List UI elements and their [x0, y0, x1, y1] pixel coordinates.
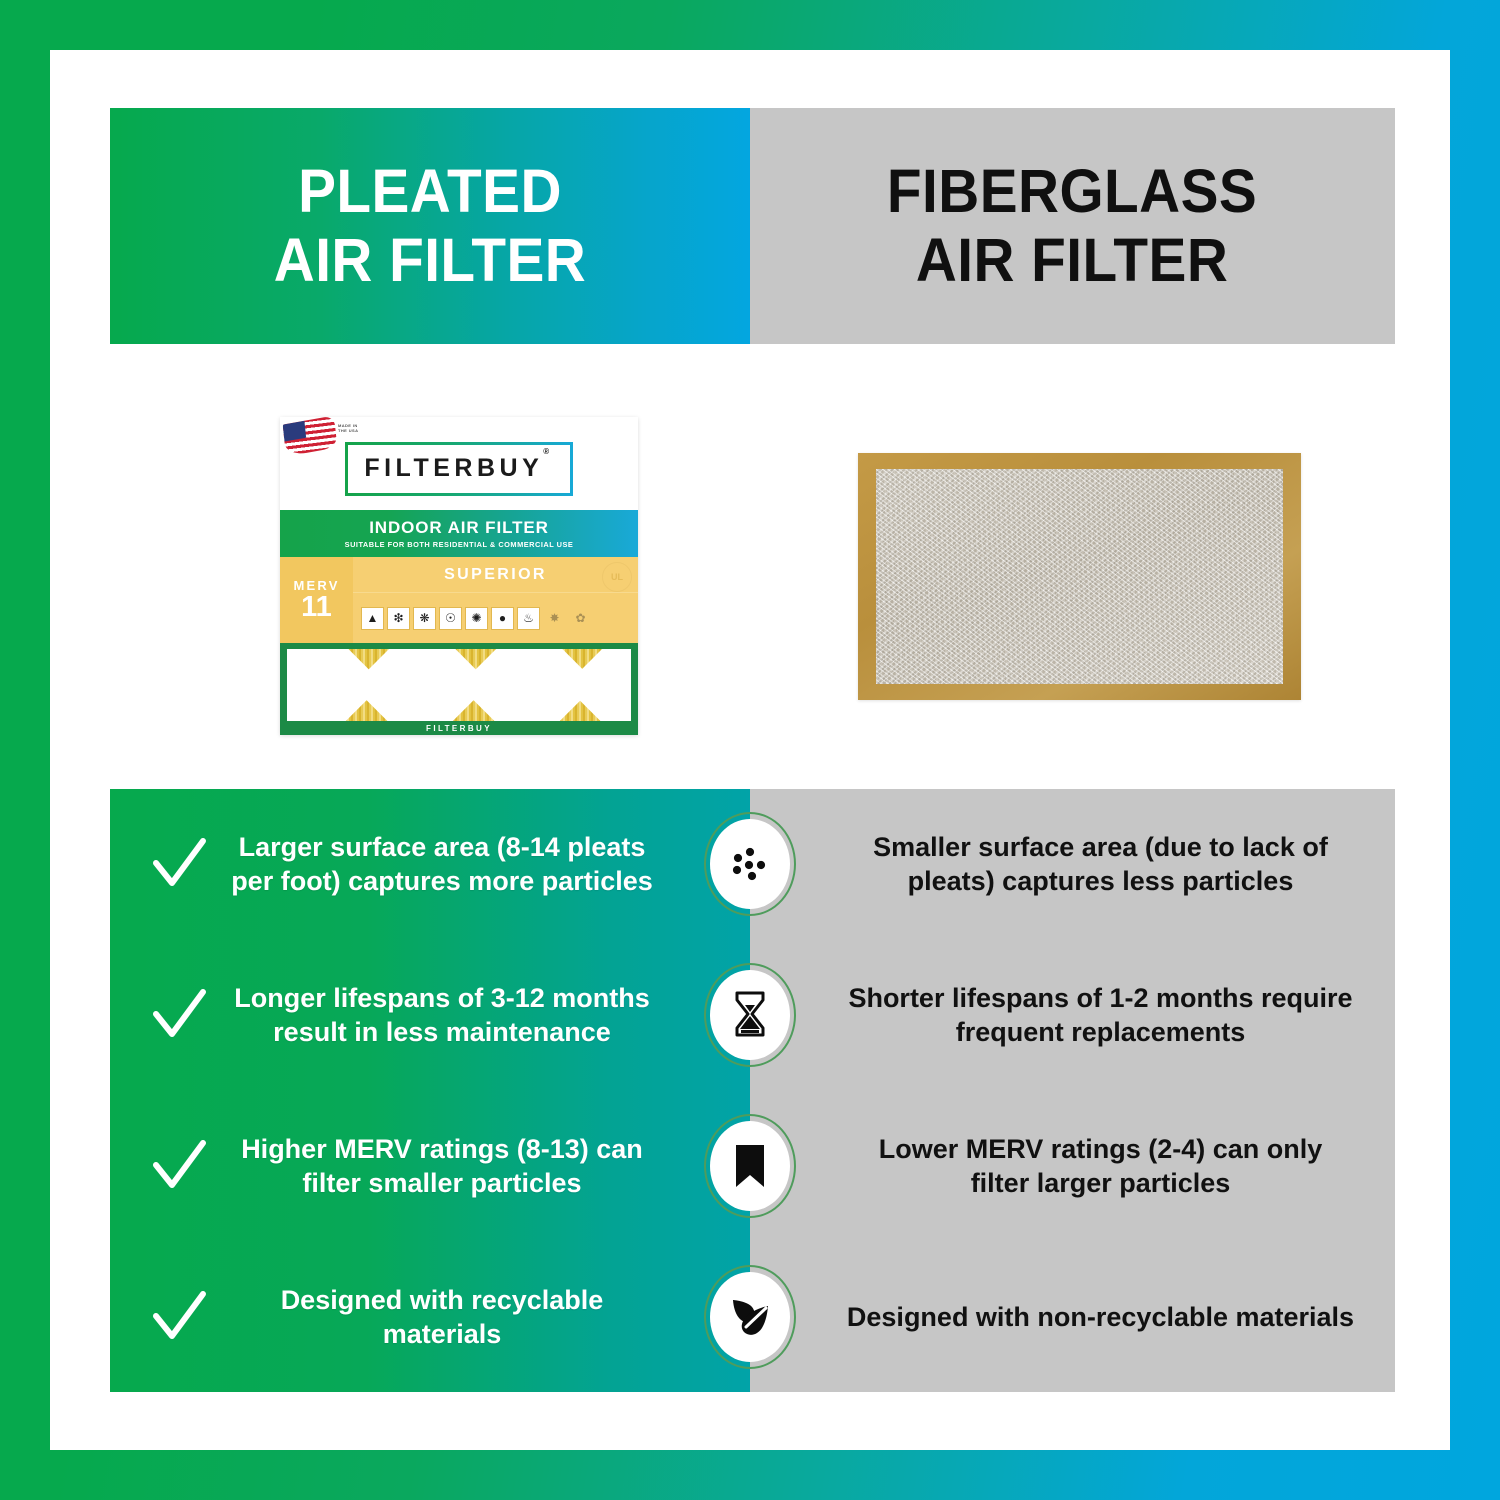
page-inner-white-card: PLEATED AIR FILTER FIBERGLASS AIR FILTER: [50, 50, 1450, 1450]
row-pleated-text: Larger surface area (8-14 pleats per foo…: [226, 830, 658, 898]
filterbuy-logo: FILTERBUY®: [345, 442, 572, 496]
package-band-main: INDOOR AIR FILTER: [369, 518, 549, 538]
comparison-rows: Larger surface area (8-14 pleats per foo…: [110, 789, 1395, 1392]
header-fiberglass-line2: AIR FILTER: [916, 226, 1228, 294]
header-fiberglass-line1: FIBERGLASS: [887, 157, 1257, 225]
row-right-fiberglass: Lower MERV ratings (2-4) can only filter…: [750, 1091, 1395, 1242]
row-right-fiberglass: Smaller surface area (due to lack of ple…: [750, 789, 1395, 940]
row-left-pleated: Larger surface area (8-14 pleats per foo…: [110, 789, 750, 940]
row-pleated-text: Longer lifespans of 3-12 months result i…: [226, 981, 658, 1049]
package-pleated-media-area: FILTERBUY: [280, 643, 638, 735]
row-fiberglass-text: Smaller surface area (due to lack of ple…: [846, 830, 1355, 898]
merv-value: 11: [301, 594, 332, 622]
particles-glyph: [726, 840, 774, 888]
fiberglass-filter-image: [858, 453, 1301, 700]
header-pleated-line1: PLEATED: [298, 157, 562, 225]
checkmark-icon: [148, 984, 210, 1046]
registered-mark: ®: [543, 447, 553, 456]
pleated-media-texture: [287, 649, 631, 721]
row-pleated-text: Designed with recyclable materials: [226, 1283, 658, 1351]
row-fiberglass-text: Lower MERV ratings (2-4) can only filter…: [846, 1132, 1355, 1200]
comparison-row: Higher MERV ratings (8-13) can filter sm…: [110, 1091, 1395, 1242]
header-pleated: PLEATED AIR FILTER: [110, 108, 750, 344]
particles-icon: [704, 812, 796, 916]
product-images-row: MADE IN THE USA FILTERBUY® INDOOR AIR FI…: [110, 365, 1395, 785]
filterbuy-logo-text: FILTERBUY®: [364, 454, 553, 483]
hourglass-icon: [704, 963, 796, 1067]
tier-label: SUPERIOR: [444, 566, 547, 584]
row-pleated-text: Higher MERV ratings (8-13) can filter sm…: [226, 1132, 658, 1200]
virus-icon-faded: ✸: [543, 607, 566, 630]
made-in-usa-label: MADE IN THE USA: [338, 423, 358, 434]
infographic-page: PLEATED AIR FILTER FIBERGLASS AIR FILTER: [0, 0, 1500, 1500]
row-right-fiberglass: Designed with non-recyclable materials: [750, 1241, 1395, 1392]
fiberglass-media-texture: [876, 469, 1283, 684]
usa-flag-icon: [283, 417, 338, 456]
bookmark-icon: [704, 1114, 796, 1218]
package-indoor-air-filter-band: INDOOR AIR FILTER SUITABLE FOR BOTH RESI…: [280, 510, 638, 557]
checkmark-icon: [148, 1286, 210, 1348]
package-band-sub: SUITABLE FOR BOTH RESIDENTIAL & COMMERCI…: [345, 540, 574, 549]
row-left-pleated: Higher MERV ratings (8-13) can filter sm…: [110, 1091, 750, 1242]
ul-certification-badge: UL: [602, 562, 632, 592]
dust-mite-icon: ❇: [387, 607, 410, 630]
header-fiberglass-title: FIBERGLASS AIR FILTER: [887, 157, 1257, 295]
row-fiberglass-text: Shorter lifespans of 1-2 months require …: [846, 981, 1355, 1049]
leaf-icon: [704, 1265, 796, 1369]
checkmark-icon: [148, 1135, 210, 1197]
row-fiberglass-text: Designed with non-recyclable materials: [846, 1300, 1355, 1334]
pleated-filter-package-image: MADE IN THE USA FILTERBUY® INDOOR AIR FI…: [280, 417, 638, 735]
header-fiberglass: FIBERGLASS AIR FILTER: [750, 108, 1395, 344]
bookmark-glyph: [726, 1142, 774, 1190]
header-row: PLEATED AIR FILTER FIBERGLASS AIR FILTER: [110, 108, 1395, 344]
checkmark-icon: [148, 833, 210, 895]
product-cell-fiberglass: [750, 365, 1395, 785]
feature-icon-strip: ▲ ❇ ❋ ☉ ✺ ● ♨ ✸ ✿: [353, 593, 638, 643]
tier-row: SUPERIOR: [353, 557, 638, 593]
row-left-pleated: Longer lifespans of 3-12 months result i…: [110, 940, 750, 1091]
header-pleated-line2: AIR FILTER: [274, 226, 586, 294]
dust-icon: ▲: [361, 607, 384, 630]
header-pleated-title: PLEATED AIR FILTER: [274, 157, 586, 295]
mold-spore-icon: ☉: [439, 607, 462, 630]
pollen-icon: ❋: [413, 607, 436, 630]
row-left-pleated: Designed with recyclable materials: [110, 1241, 750, 1392]
leaf-glyph: [726, 1293, 774, 1341]
smoke-icon: ♨: [517, 607, 540, 630]
hourglass-glyph: [726, 991, 774, 1039]
package-logo-area: MADE IN THE USA FILTERBUY®: [280, 417, 638, 510]
support-diamond: [565, 649, 631, 721]
package-bottom-brand: FILTERBUY: [280, 724, 638, 733]
package-merv-section: MERV 11 SUPERIOR ▲ ❇ ❋ ☉: [280, 557, 638, 643]
pet-dander-icon: ●: [491, 607, 514, 630]
comparison-row: Longer lifespans of 3-12 months result i…: [110, 940, 1395, 1091]
comparison-row: Larger surface area (8-14 pleats per foo…: [110, 789, 1395, 940]
row-right-fiberglass: Shorter lifespans of 1-2 months require …: [750, 940, 1395, 1091]
comparison-row: Designed with recyclable materials Desi: [110, 1241, 1395, 1392]
product-cell-pleated: MADE IN THE USA FILTERBUY® INDOOR AIR FI…: [110, 365, 750, 785]
bacteria-icon: ✺: [465, 607, 488, 630]
merv-right-block: SUPERIOR ▲ ❇ ❋ ☉ ✺ ● ♨ ✸ ✿: [353, 557, 638, 643]
odor-icon-faded: ✿: [569, 607, 592, 630]
merv-rating-block: MERV 11: [280, 557, 353, 643]
